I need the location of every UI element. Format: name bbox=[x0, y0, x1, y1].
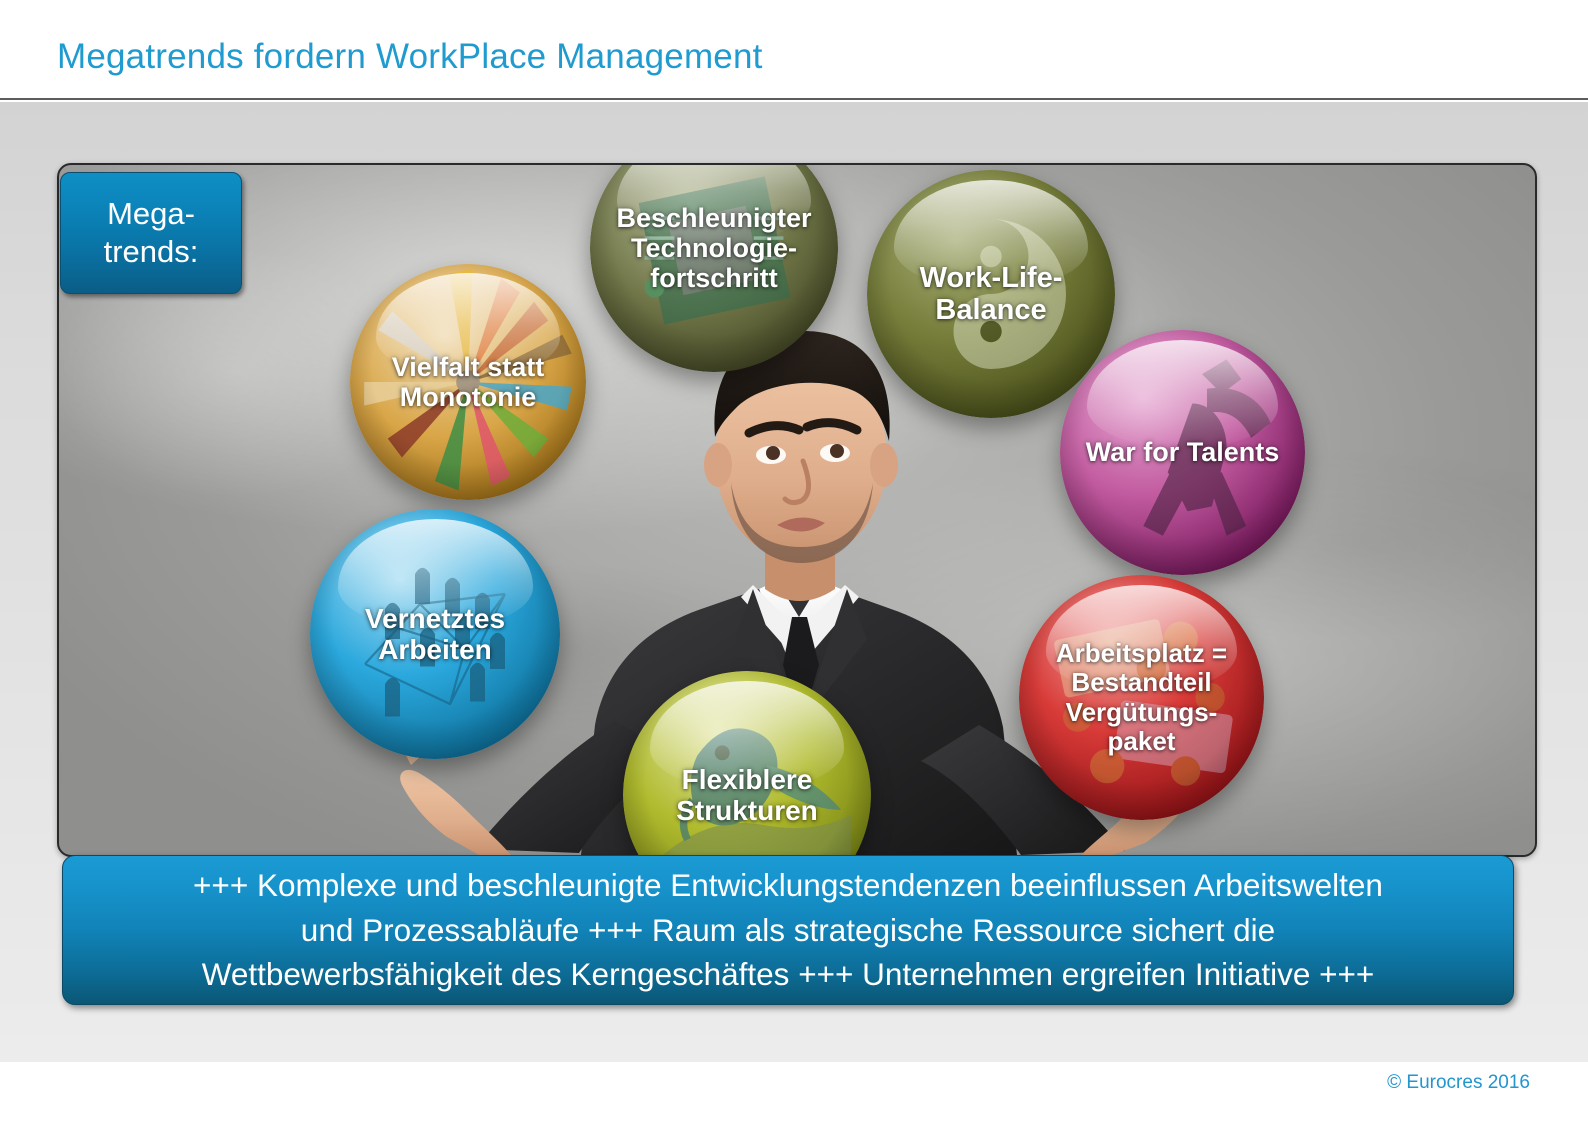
bubble-vielfalt-statt-monotonie[interactable]: Vielfalt statt Monotonie bbox=[350, 264, 586, 500]
bubble-war-for-talents[interactable]: War for Talents bbox=[1060, 330, 1305, 575]
copyright-notice: © Eurocres 2016 bbox=[1387, 1072, 1530, 1094]
bubble-label: Vernetztes Arbeiten bbox=[359, 603, 511, 666]
page-title: Megatrends fordern WorkPlace Management bbox=[57, 37, 763, 77]
ticker-banner: +++ Komplexe und beschleunigte Entwicklu… bbox=[62, 855, 1514, 1005]
bubble-vernetztes-arbeiten[interactable]: Vernetztes Arbeiten bbox=[310, 509, 560, 759]
bubble-arbeitsplatz-verguetungspaket[interactable]: Arbeitsplatz = Bestandteil Vergütungs- p… bbox=[1019, 575, 1264, 820]
megatrends-badge[interactable]: Mega- trends: bbox=[60, 172, 242, 294]
slide: Megatrends fordern WorkPlace Management bbox=[0, 0, 1588, 1123]
bubble-label: Beschleunigter Technologie- fortschritt bbox=[610, 203, 817, 294]
bubble-beschleunigter-technologiefortschritt[interactable]: Beschleunigter Technologie- fortschritt bbox=[590, 163, 838, 372]
megatrends-badge-label: Mega- trends: bbox=[104, 195, 199, 271]
bubble-label: Flexiblere Strukturen bbox=[670, 764, 824, 827]
photo-panel: Beschleunigter Technologie- fortschritt bbox=[57, 163, 1537, 857]
bubble-flexiblere-strukturen[interactable]: Flexiblere Strukturen bbox=[623, 671, 871, 857]
bubble-label: Arbeitsplatz = Bestandteil Vergütungs- p… bbox=[1050, 639, 1233, 755]
bubble-label: Vielfalt statt Monotonie bbox=[386, 352, 551, 412]
ticker-banner-text: +++ Komplexe und beschleunigte Entwicklu… bbox=[179, 863, 1397, 997]
slide-header: Megatrends fordern WorkPlace Management bbox=[0, 0, 1588, 100]
bubble-label: War for Talents bbox=[1080, 437, 1286, 467]
bubble-label: Work-Life- Balance bbox=[914, 262, 1069, 327]
